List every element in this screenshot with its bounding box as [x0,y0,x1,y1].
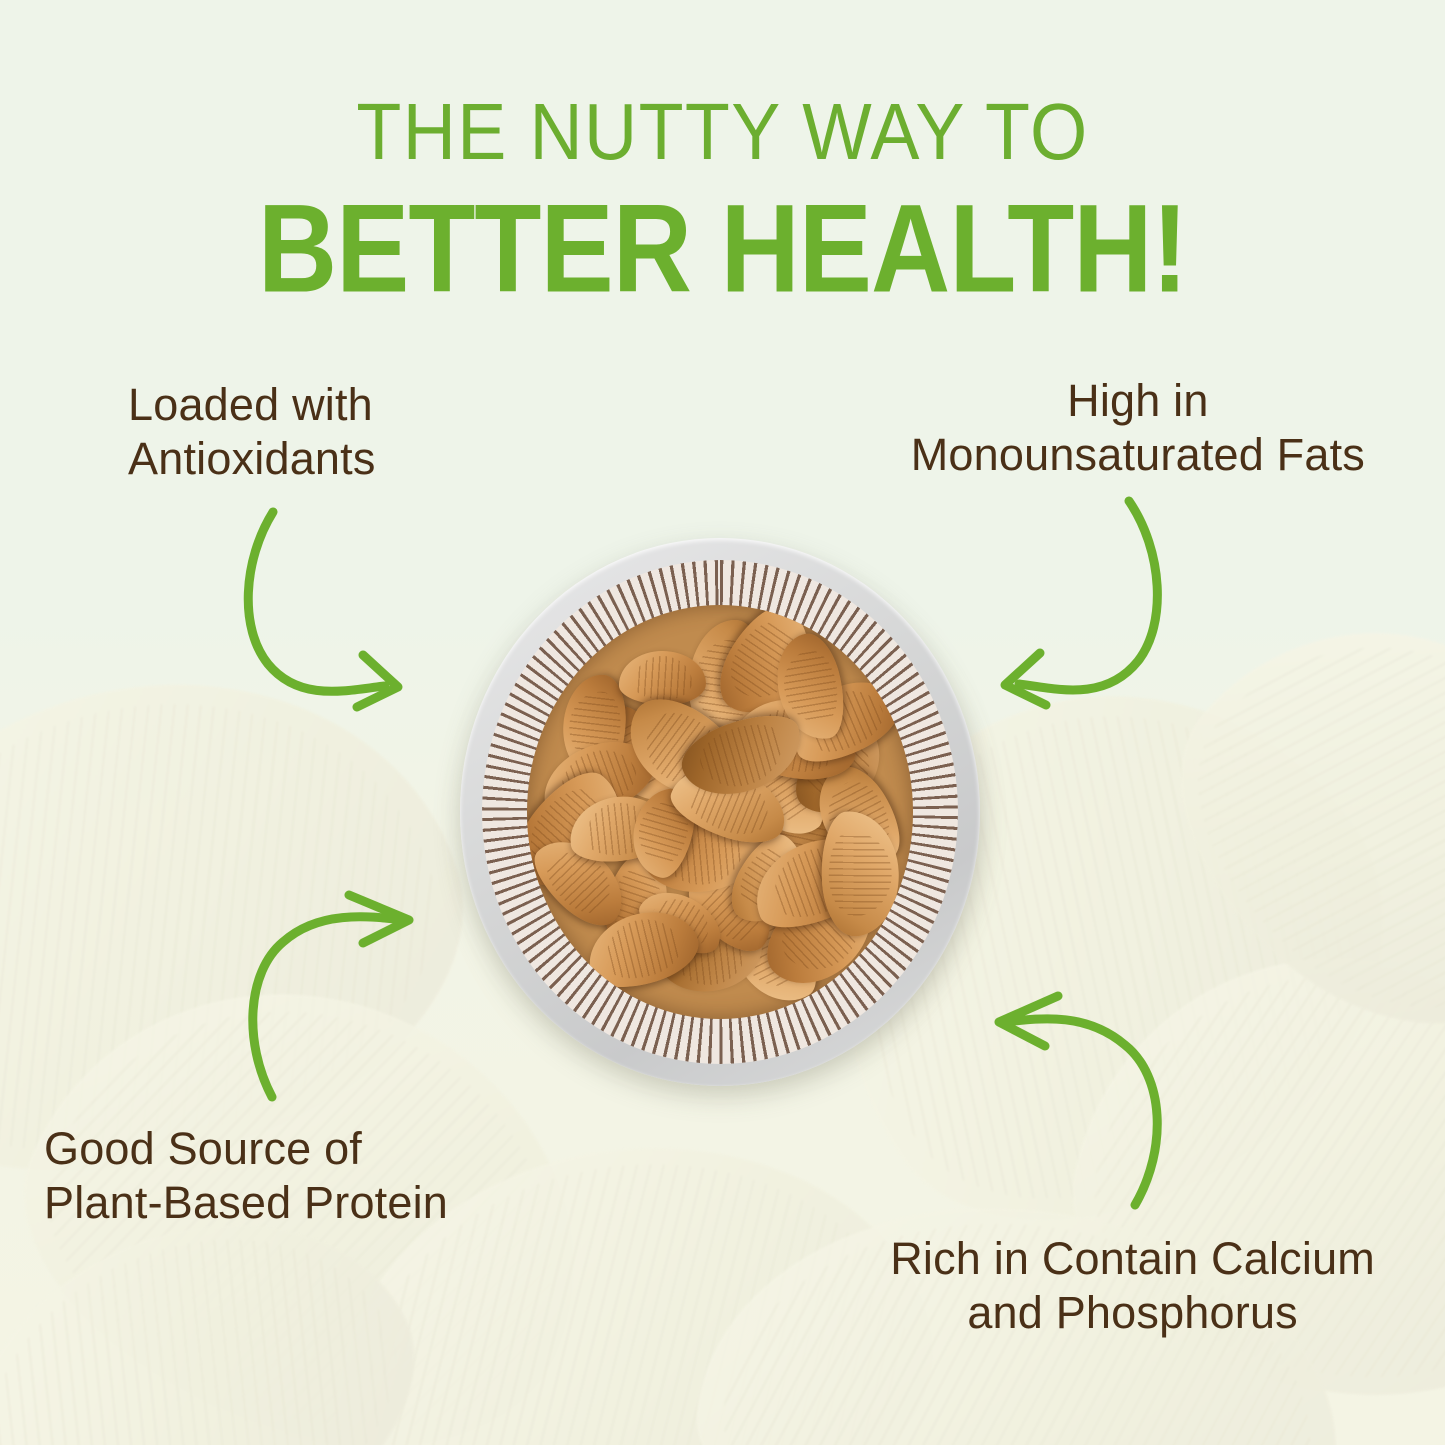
benefit-label-calcium-phosphorus: Rich in Contain Calcium and Phosphorus [890,1232,1375,1340]
bowl-inner-band [482,560,958,1064]
almond-pile [527,605,913,1018]
page-title: THE NUTTY WAY TO BETTER HEALTH! [0,92,1445,298]
benefit-label-plant-based-protein: Good Source of Plant-Based Protein [44,1122,448,1230]
infographic-poster: THE NUTTY WAY TO BETTER HEALTH! [0,0,1445,1445]
bowl-of-almonds [452,532,988,1098]
bowl-rim [460,538,980,1086]
headline-line-1: THE NUTTY WAY TO [58,92,1387,172]
benefit-label-antioxidants: Loaded with Antioxidants [128,378,376,486]
benefit-label-monounsaturated-fats: High in Monounsaturated Fats [911,374,1365,482]
headline-line-2: BETTER HEALTH! [14,186,1430,311]
